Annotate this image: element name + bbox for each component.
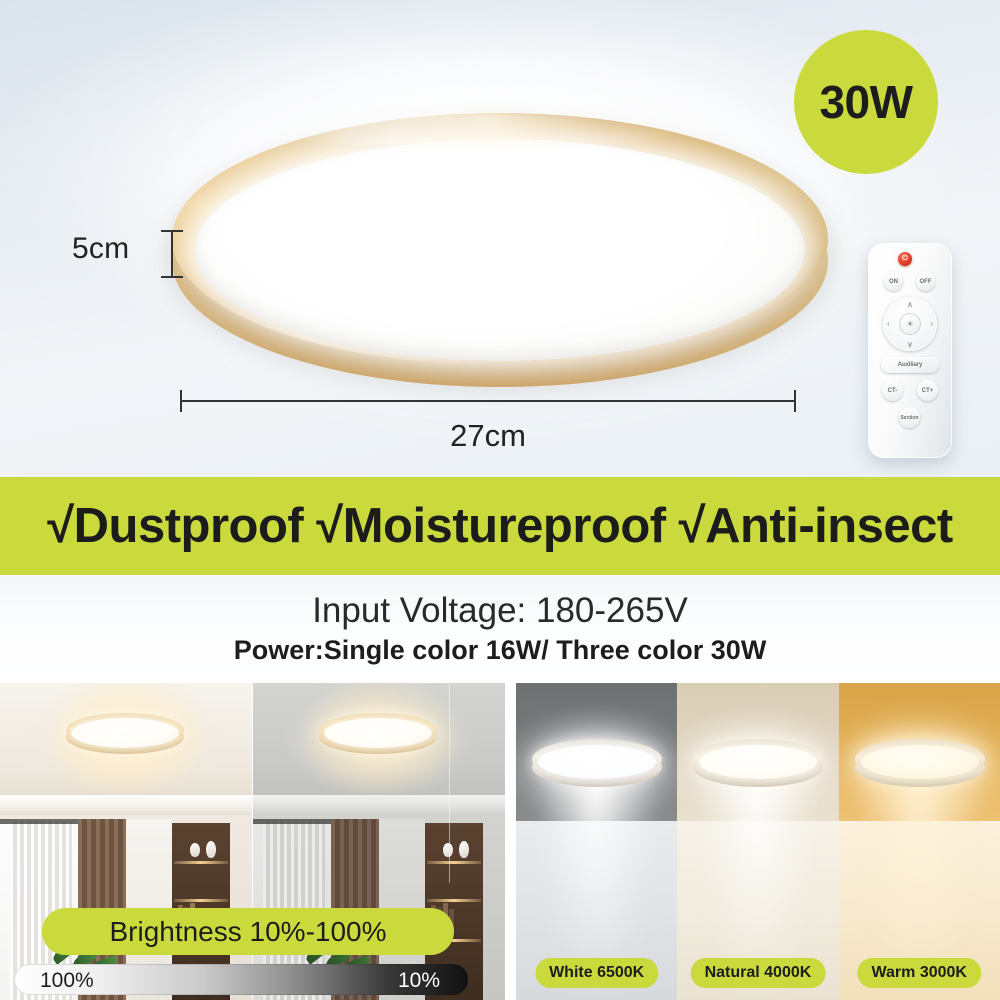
ceiling-light-fixture [150,95,840,400]
cct-badge-warm: Warm 3000K [858,958,981,988]
brightness-badge-label: Brightness 10%-100% [109,916,386,948]
ct-minus-button[interactable]: CT- [882,380,903,401]
hero-section: 5cm 27cm 30W ⏻ ON OFF ∧ ∨ [0,0,1000,477]
brightness-min-label: 10% [398,969,440,993]
arrow-up-icon[interactable]: ∧ [907,300,913,309]
cct-panel-white: White 6500K [516,683,677,1000]
rim-specular-highlight [270,111,690,147]
arrow-left-icon[interactable]: ‹ [887,319,890,328]
on-button[interactable]: ON [884,272,903,291]
ct-minus-label: CT- [888,388,898,394]
cct-badge-white-label: White 6500K [549,964,644,981]
diffuser-sheen [240,153,670,273]
height-dimension-label: 5cm [72,232,129,266]
auxiliary-button-label: Auxiliary [898,362,922,368]
remote-control[interactable]: ⏻ ON OFF ∧ ∨ ‹ › ☀ Auxiliary CT- [868,243,952,458]
on-button-label: ON [889,279,898,285]
height-dimension-line [161,230,183,278]
cct-badge-natural: Natural 4000K [691,958,826,988]
feature-banner-text: √Dustproof √Moistureproof √Anti-insect [47,498,953,554]
directional-pad[interactable]: ∧ ∨ ‹ › ☀ [883,297,937,351]
bulb-glyph: ☀ [906,319,914,330]
ct-plus-label: CT+ [922,388,934,394]
cct-panel-natural: Natural 4000K [677,683,838,1000]
ct-plus-button[interactable]: CT+ [917,380,938,401]
width-dimension-line [180,390,796,412]
color-temperature-demo: White 6500K Natural 4000K [516,683,1000,1000]
arrow-down-icon[interactable]: ∨ [907,340,913,349]
width-dimension-label: 27cm [0,418,976,454]
wattage-badge-label: 30W [819,75,912,129]
auxiliary-button[interactable]: Auxiliary [881,357,939,373]
cct-panel-warm: Warm 3000K [839,683,1000,1000]
off-button[interactable]: OFF [916,272,935,291]
arrow-right-icon[interactable]: › [930,319,933,328]
feature-banner: √Dustproof √Moistureproof √Anti-insect [0,477,1000,575]
bottom-section: Brightness 10%-100% 100% 10% White 6500K [0,683,1000,1000]
off-button-label: OFF [920,279,932,285]
cct-badge-warm-label: Warm 3000K [872,964,967,981]
brightness-gradient-bar: 100% 10% [14,964,468,995]
power-spec-text: Power:Single color 16W/ Three color 30W [0,635,1000,666]
brightness-demo: Brightness 10%-100% 100% 10% [0,683,505,1000]
bulb-icon[interactable]: ☀ [899,313,921,335]
brightness-badge: Brightness 10%-100% [42,908,454,955]
specifications-section: Input Voltage: 180-265V Power:Single col… [0,575,1000,683]
power-icon: ⏻ [902,255,908,263]
product-infographic: 5cm 27cm 30W ⏻ ON OFF ∧ ∨ [0,0,1000,1000]
section-button[interactable]: Section [899,407,920,428]
cct-badge-white: White 6500K [535,958,658,988]
cct-badge-natural-label: Natural 4000K [705,964,812,981]
input-voltage-text: Input Voltage: 180-265V [0,591,1000,631]
section-button-label: Section [900,415,918,421]
power-button[interactable]: ⏻ [898,252,912,266]
wattage-badge: 30W [794,30,938,174]
brightness-max-label: 100% [40,969,94,993]
